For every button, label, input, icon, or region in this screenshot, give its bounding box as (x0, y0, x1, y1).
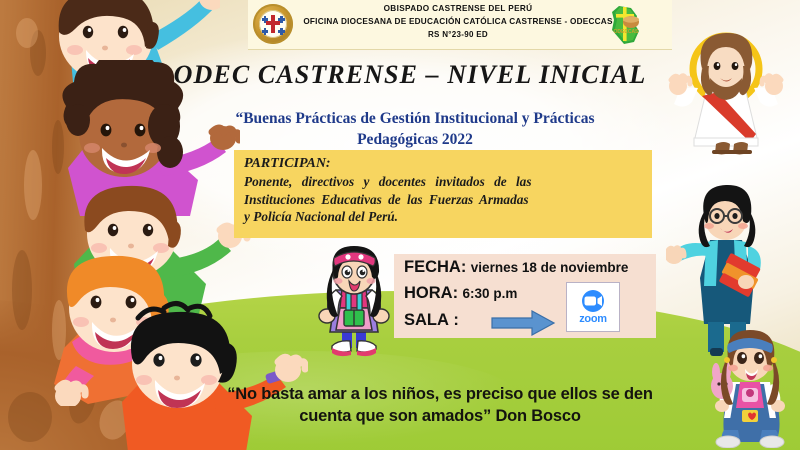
quote-line-1: “No basta amar a los niños, es preciso q… (175, 383, 705, 405)
cartoon-jesus-illustration (662, 22, 790, 162)
fecha-value: viernes 18 de noviembre (471, 260, 629, 275)
quote-block: “No basta amar a los niños, es preciso q… (175, 383, 705, 427)
header-line-1: OBISPADO CASTRENSE DEL PERÚ (278, 3, 638, 15)
zoom-camera-icon (578, 290, 608, 312)
participan-heading: PARTICIPAN: (244, 155, 642, 173)
quote-line-2: cuenta que son amados” Don Bosco (175, 405, 705, 427)
hora-label: HORA (404, 284, 453, 302)
hora-row: HORA: 6:30 p.m (404, 284, 517, 303)
zoom-label: zoom (579, 313, 607, 325)
sala-row: SALA : (404, 311, 459, 330)
sala-separator: : (453, 311, 459, 329)
subtitle-line-1: “Buenas Prácticas de Gestión Institucion… (165, 108, 665, 129)
header-line-2: OFICINA DIOCESANA DE EDUCACIÓN CATÓLICA … (278, 15, 638, 28)
page-subtitle: “Buenas Prácticas de Gestión Institucion… (165, 108, 665, 150)
header-line-3: RS N°23-90 ED (278, 28, 638, 41)
fecha-separator: : (461, 258, 467, 276)
participan-line-2: Instituciones Educativas de las Fuerzas … (244, 191, 642, 209)
zoom-link-button[interactable]: zoom (566, 282, 620, 332)
poster-canvas: OBISPADO CASTRENSE DEL PERÚ OFICINA DIOC… (0, 0, 800, 450)
sala-label: SALA (404, 311, 449, 329)
event-details-panel: FECHA: viernes 18 de noviembre HORA: 6:3… (394, 254, 656, 338)
fecha-label: FECHA (404, 258, 461, 276)
subtitle-line-2: Pedagógicas 2022 (165, 129, 665, 150)
hora-separator: : (453, 284, 459, 302)
hora-value: 6:30 p.m (463, 286, 518, 301)
page-title: ODEC CASTRENSE – NIVEL INICIAL (150, 60, 670, 90)
odeccas-peru-map-logo-icon: ODECCAS (604, 4, 648, 46)
girl-with-backpack-illustration (306, 246, 402, 366)
right-arrow-icon (490, 310, 556, 336)
participan-box: PARTICIPAN: Ponente, directivos y docent… (234, 150, 652, 238)
participan-line-1: Ponente, directivos y docentes invitados… (244, 173, 642, 191)
girl-sitting-with-bunny-illustration (702, 330, 798, 448)
header-text-block: OBISPADO CASTRENSE DEL PERÚ OFICINA DIOC… (278, 3, 638, 41)
participan-line-3: y Policía Nacional del Perú. (244, 208, 642, 226)
map-logo-text: ODECCAS (613, 29, 639, 35)
fecha-row: FECHA: viernes 18 de noviembre (404, 258, 628, 277)
